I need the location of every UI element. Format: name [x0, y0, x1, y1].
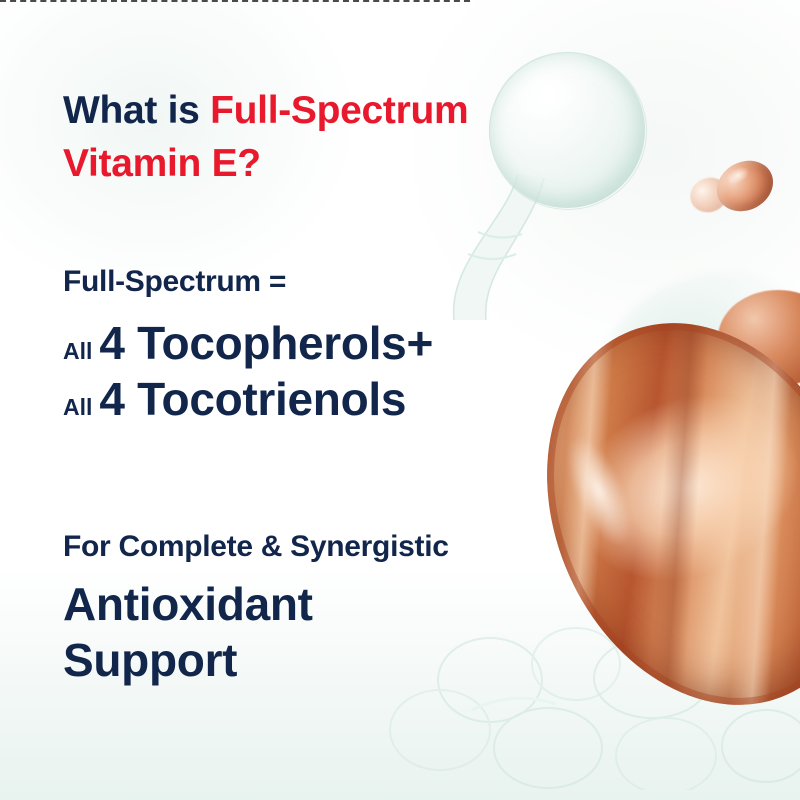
benefit-lead: For Complete & Synergistic [63, 528, 449, 565]
amber-softgel-large-rim [488, 272, 800, 756]
amber-softgel-small-highlight [724, 163, 752, 188]
amber-softgel-large-highlight [554, 428, 644, 555]
background-wash-top-right [400, 0, 800, 380]
page-title: What is Full-Spectrum Vitamin E? [63, 84, 533, 190]
headline-accent-1: Full-Spectrum [210, 89, 468, 132]
definition-qualifier: All [63, 394, 92, 420]
amber-softgel-edge [718, 290, 800, 386]
equation-label: Full-Spectrum = [63, 264, 286, 300]
amber-softgel-large [488, 272, 800, 756]
definition-qualifier: All [63, 338, 92, 364]
definition-value: 4 Tocotrienols [99, 373, 406, 425]
pale-softgel-outlines [380, 560, 800, 790]
amber-softgel-small-back [685, 172, 734, 219]
amber-softgel-small [708, 151, 782, 221]
blurred-softgel-backdrop [580, 242, 800, 460]
benefit-line-antioxidant: Antioxidant [63, 576, 313, 632]
amber-softgel-large-streaks [488, 272, 800, 756]
headline-accent-2: Vitamin E? [63, 142, 261, 185]
definition-row-tocotrienols: All4 Tocotrienols [63, 372, 406, 434]
glass-bubble-neck [452, 170, 528, 310]
infographic-canvas: What is Full-Spectrum Vitamin E? Full-Sp… [0, 0, 800, 800]
benefit-line-support: Support [63, 632, 237, 688]
dashed-divider [0, 0, 470, 2]
definition-row-tocopherols: All4 Tocopherols+ [63, 316, 433, 378]
definition-value: 4 Tocopherols+ [99, 317, 433, 369]
headline-plain: What is [63, 89, 210, 132]
